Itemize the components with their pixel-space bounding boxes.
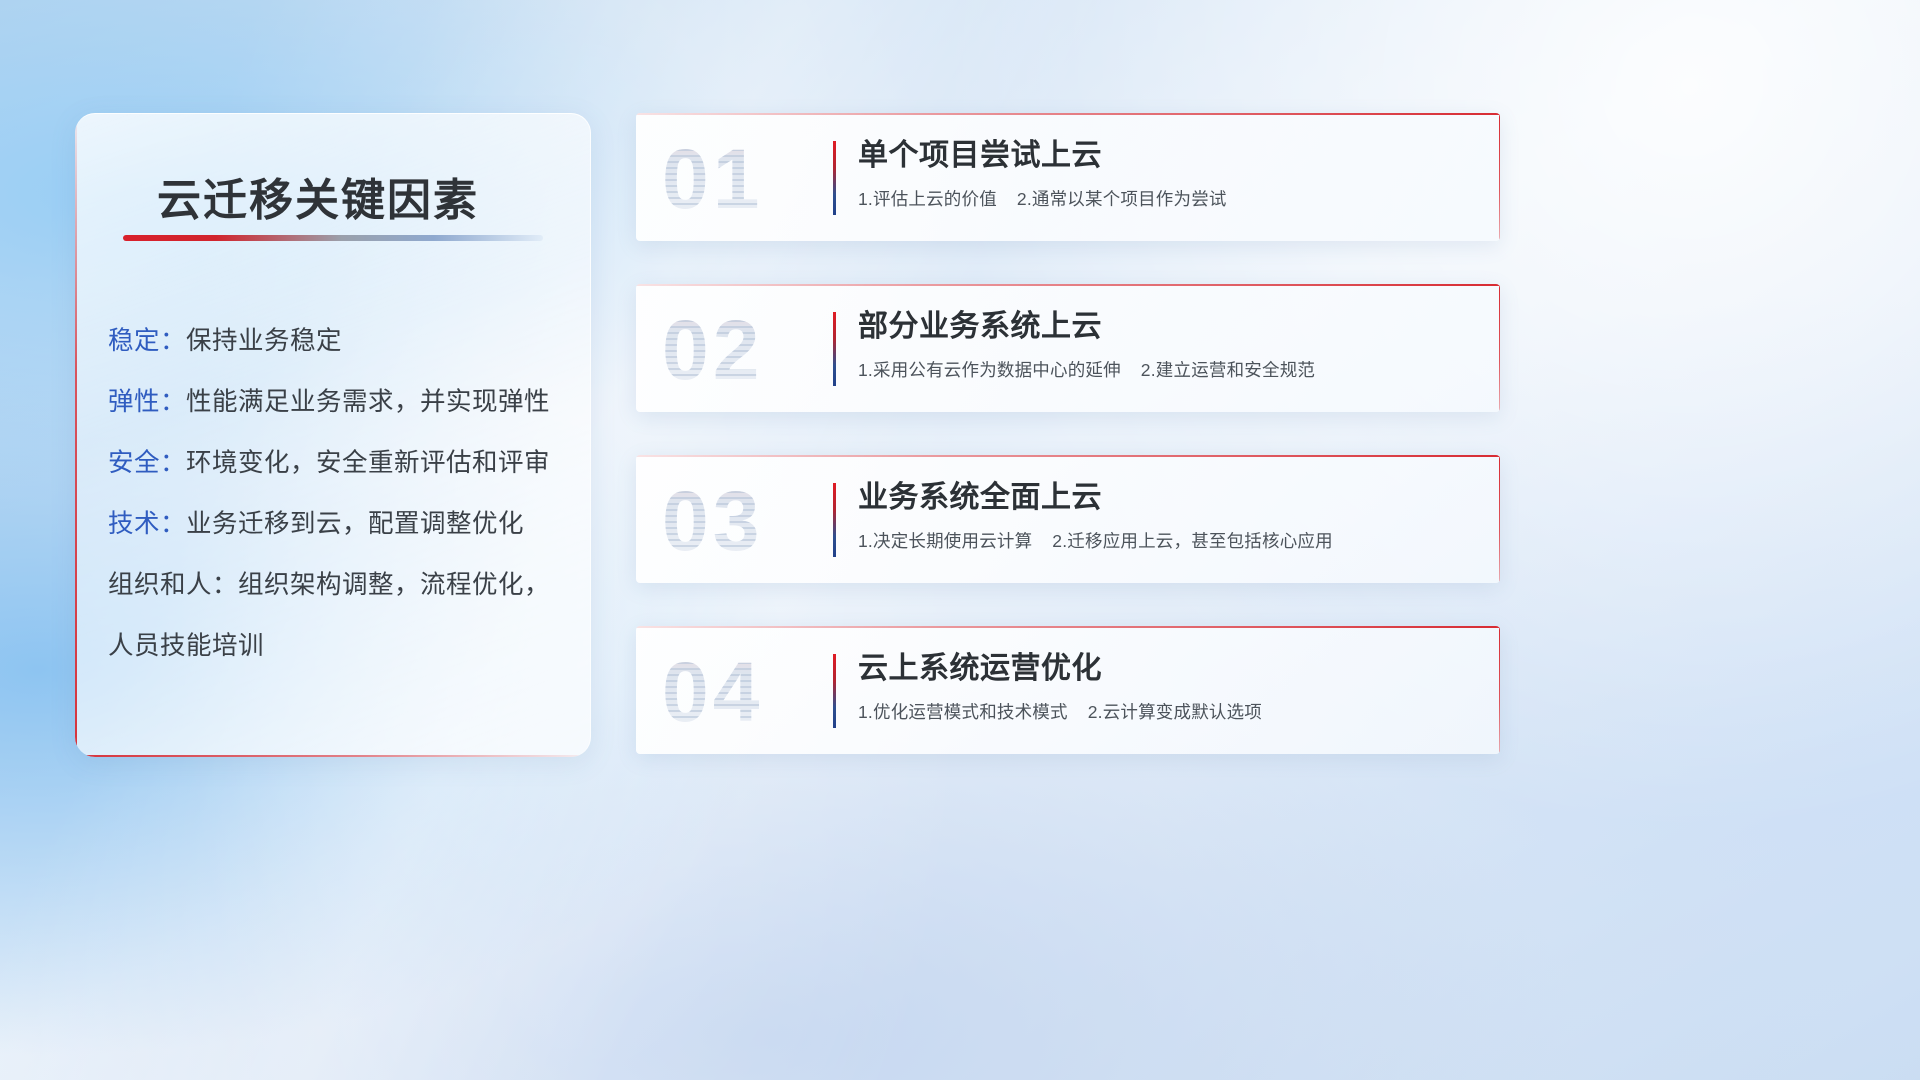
title-underline-rule (123, 235, 543, 241)
accent-divider (833, 483, 836, 557)
accent-divider (833, 312, 836, 386)
factor-value: 业务迁移到云，配置调整优化 (186, 510, 524, 538)
stage-title: 部分业务系统上云 (858, 306, 1480, 348)
stage-desc-item: 1.优化运营模式和技术模式 (858, 702, 1068, 722)
accent-divider (833, 141, 836, 215)
factor-key: 组织和人： (108, 571, 238, 599)
stage-description: 1.优化运营模式和技术模式2.云计算变成默认选项 (858, 699, 1480, 725)
stage-number: 01 (662, 131, 852, 227)
stage-description: 1.决定长期使用云计算2.迁移应用上云，甚至包括核心应用 (858, 528, 1480, 554)
slide-canvas: 云迁移关键因素 稳定：保持业务稳定 弹性：性能满足业务需求，并实现弹性 安全：环… (0, 0, 1920, 1080)
stage-desc-item: 2.建立运营和安全规范 (1141, 360, 1315, 380)
factor-key: 安全： (108, 449, 186, 477)
stage-description: 1.评估上云的价值2.通常以某个项目作为尝试 (858, 186, 1480, 212)
factor-value: 保持业务稳定 (186, 327, 342, 355)
page-title: 云迁移关键因素 (157, 164, 479, 228)
factor-list: 稳定：保持业务稳定 弹性：性能满足业务需求，并实现弹性 安全：环境变化，安全重新… (108, 311, 572, 677)
key-factors-panel: 云迁移关键因素 稳定：保持业务稳定 弹性：性能满足业务需求，并实现弹性 安全：环… (75, 113, 591, 757)
factor-value: 环境变化，安全重新评估和评审 (186, 449, 550, 477)
stage-card[interactable]: 02 部分业务系统上云 1.采用公有云作为数据中心的延伸2.建立运营和安全规范 (636, 284, 1500, 412)
stage-desc-item: 2.通常以某个项目作为尝试 (1017, 189, 1227, 209)
list-item-continuation: 人员技能培训 (108, 616, 572, 677)
stage-desc-item: 2.云计算变成默认选项 (1088, 702, 1262, 722)
factor-key: 技术： (108, 510, 186, 538)
factor-value: 人员技能培训 (108, 632, 264, 660)
stage-title: 单个项目尝试上云 (858, 135, 1480, 177)
list-item: 组织和人：组织架构调整，流程优化， (108, 555, 572, 616)
stage-title: 云上系统运营优化 (858, 648, 1480, 690)
stage-card-body: 单个项目尝试上云 1.评估上云的价值2.通常以某个项目作为尝试 (858, 135, 1480, 212)
stage-title: 业务系统全面上云 (858, 477, 1480, 519)
stage-card-body: 业务系统全面上云 1.决定长期使用云计算2.迁移应用上云，甚至包括核心应用 (858, 477, 1480, 554)
factor-value: 性能满足业务需求，并实现弹性 (186, 388, 550, 416)
stage-card[interactable]: 03 业务系统全面上云 1.决定长期使用云计算2.迁移应用上云，甚至包括核心应用 (636, 455, 1500, 583)
stage-description: 1.采用公有云作为数据中心的延伸2.建立运营和安全规范 (858, 357, 1480, 383)
stage-desc-item: 1.评估上云的价值 (858, 189, 997, 209)
stage-card[interactable]: 04 云上系统运营优化 1.优化运营模式和技术模式2.云计算变成默认选项 (636, 626, 1500, 754)
list-item: 安全：环境变化，安全重新评估和评审 (108, 433, 572, 494)
stage-desc-item: 1.决定长期使用云计算 (858, 531, 1032, 551)
stage-desc-item: 1.采用公有云作为数据中心的延伸 (858, 360, 1121, 380)
list-item: 稳定：保持业务稳定 (108, 311, 572, 372)
stage-desc-item: 2.迁移应用上云，甚至包括核心应用 (1052, 531, 1333, 551)
list-item: 弹性：性能满足业务需求，并实现弹性 (108, 372, 572, 433)
stage-card[interactable]: 01 单个项目尝试上云 1.评估上云的价值2.通常以某个项目作为尝试 (636, 113, 1500, 241)
list-item: 技术：业务迁移到云，配置调整优化 (108, 494, 572, 555)
stage-number: 04 (662, 644, 852, 740)
factor-value: 组织架构调整，流程优化， (238, 571, 550, 599)
factor-key: 稳定： (108, 327, 186, 355)
stage-card-body: 部分业务系统上云 1.采用公有云作为数据中心的延伸2.建立运营和安全规范 (858, 306, 1480, 383)
stage-number: 03 (662, 473, 852, 569)
factor-key: 弹性： (108, 388, 186, 416)
stage-card-body: 云上系统运营优化 1.优化运营模式和技术模式2.云计算变成默认选项 (858, 648, 1480, 725)
stage-card-list: 01 单个项目尝试上云 1.评估上云的价值2.通常以某个项目作为尝试 02 部分… (636, 113, 1500, 797)
stage-number: 02 (662, 302, 852, 398)
accent-divider (833, 654, 836, 728)
